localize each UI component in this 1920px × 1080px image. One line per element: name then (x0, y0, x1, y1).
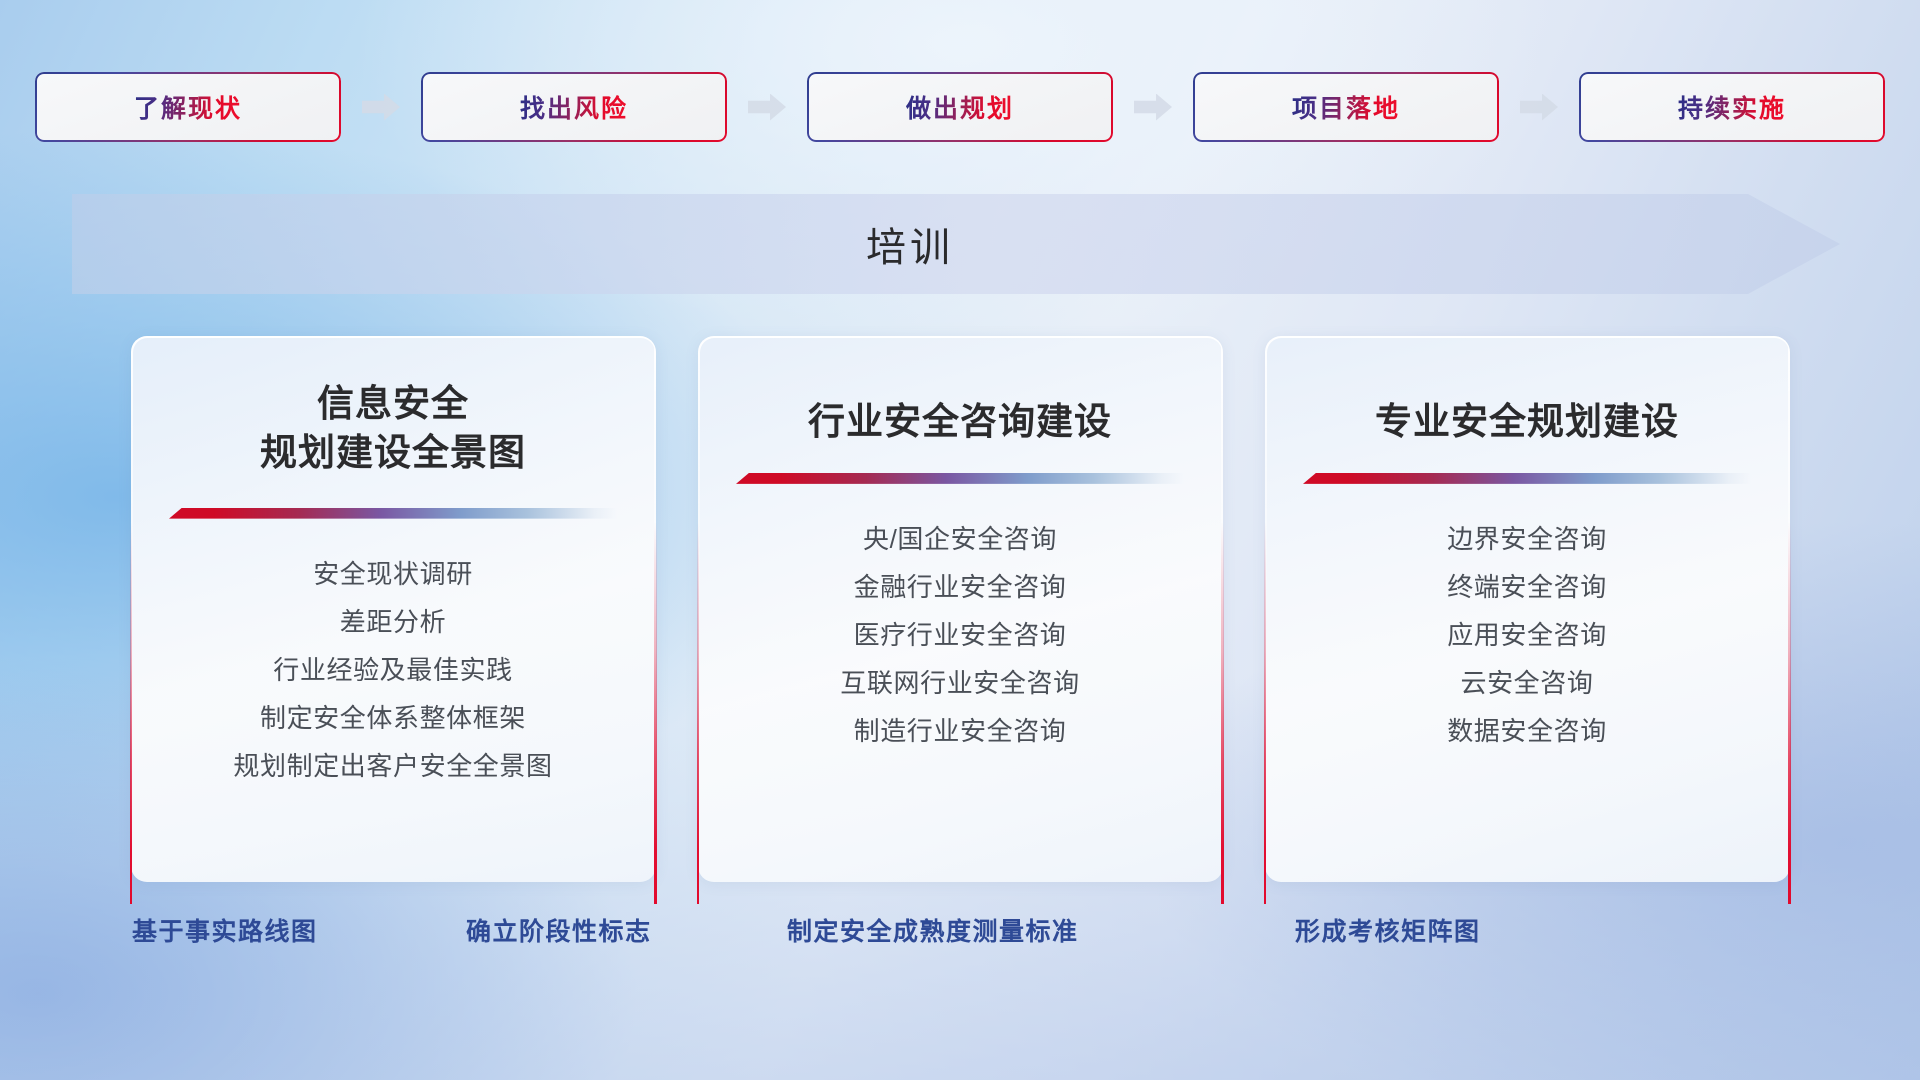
card-rail-right (1221, 522, 1224, 904)
card-rail-right (1788, 522, 1791, 904)
list-item: 数据安全咨询 (1447, 710, 1607, 752)
list-item: 央/国企安全咨询 (863, 518, 1057, 560)
list-item: 终端安全咨询 (1447, 566, 1607, 608)
card-information-security-panorama[interactable]: 信息安全 规划建设全景图 安全现状调研 差距分析 行业经验及最佳实践 制定安全体… (131, 336, 656, 882)
step-label-3: 做出规划 (906, 89, 1014, 125)
card-divider-3 (1303, 473, 1751, 484)
list-item: 行业经验及最佳实践 (273, 649, 512, 691)
caption-2: 确立阶段性标志 (466, 912, 652, 948)
process-steps-row: 了解现状 找出风险 做出规划 项目落地 持续实施 (0, 72, 1920, 142)
arrow-right-icon (1134, 94, 1172, 121)
training-banner-arrow: 培训 (72, 194, 1840, 294)
card-industry-security-consulting[interactable]: 行业安全咨询建设 央/国企安全咨询 金融行业安全咨询 医疗行业安全咨询 互联网行… (698, 336, 1223, 882)
step-label-1: 了解现状 (134, 89, 242, 125)
card-list-1: 安全现状调研 差距分析 行业经验及最佳实践 制定安全体系整体框架 规划制定出客户… (233, 553, 552, 788)
step-label-4: 项目落地 (1292, 89, 1400, 125)
cards-row: 信息安全 规划建设全景图 安全现状调研 差距分析 行业经验及最佳实践 制定安全体… (0, 336, 1920, 888)
list-item: 云安全咨询 (1460, 662, 1593, 704)
step-box-4[interactable]: 项目落地 (1193, 72, 1499, 142)
list-item: 规划制定出客户安全全景图 (233, 745, 552, 787)
card-title-3: 专业安全规划建设 (1375, 398, 1679, 447)
card-rail-left (697, 522, 700, 904)
list-item: 安全现状调研 (313, 553, 473, 595)
list-item: 差距分析 (340, 601, 446, 643)
step-box-1[interactable]: 了解现状 (35, 72, 341, 142)
card-title-1: 信息安全 规划建设全景图 (260, 380, 526, 478)
card-list-3: 边界安全咨询 终端安全咨询 应用安全咨询 云安全咨询 数据安全咨询 (1447, 518, 1607, 753)
step-box-5[interactable]: 持续实施 (1579, 72, 1885, 142)
arrow-right-icon (1520, 94, 1558, 121)
card-divider-1 (169, 508, 617, 519)
card-rail-left (1264, 522, 1267, 904)
card-rail-right (654, 522, 657, 904)
caption-1: 基于事实路线图 (132, 912, 318, 948)
step-label-2: 找出风险 (520, 89, 628, 125)
step-box-2[interactable]: 找出风险 (421, 72, 727, 142)
list-item: 制定安全体系整体框架 (260, 697, 526, 739)
card-list-2: 央/国企安全咨询 金融行业安全咨询 医疗行业安全咨询 互联网行业安全咨询 制造行… (840, 518, 1079, 753)
caption-3: 制定安全成熟度测量标准 (787, 912, 1079, 948)
step-label-5: 持续实施 (1678, 89, 1786, 125)
card-rail-left (130, 522, 133, 904)
card-professional-security-planning[interactable]: 专业安全规划建设 边界安全咨询 终端安全咨询 应用安全咨询 云安全咨询 数据安全… (1265, 336, 1790, 882)
card-title-2: 行业安全咨询建设 (808, 398, 1112, 447)
list-item: 金融行业安全咨询 (854, 566, 1067, 608)
banner-title: 培训 (866, 215, 954, 273)
list-item: 边界安全咨询 (1447, 518, 1607, 560)
caption-4: 形成考核矩阵图 (1295, 912, 1481, 948)
list-item: 医疗行业安全咨询 (854, 614, 1067, 656)
list-item: 应用安全咨询 (1447, 614, 1607, 656)
list-item: 制造行业安全咨询 (854, 710, 1067, 752)
arrow-right-icon (362, 94, 400, 121)
card-divider-2 (736, 473, 1184, 484)
list-item: 互联网行业安全咨询 (840, 662, 1079, 704)
step-box-3[interactable]: 做出规划 (807, 72, 1113, 142)
arrow-right-icon (748, 94, 786, 121)
footer-captions-row: 基于事实路线图 确立阶段性标志 制定安全成熟度测量标准 形成考核矩阵图 (0, 912, 1920, 972)
